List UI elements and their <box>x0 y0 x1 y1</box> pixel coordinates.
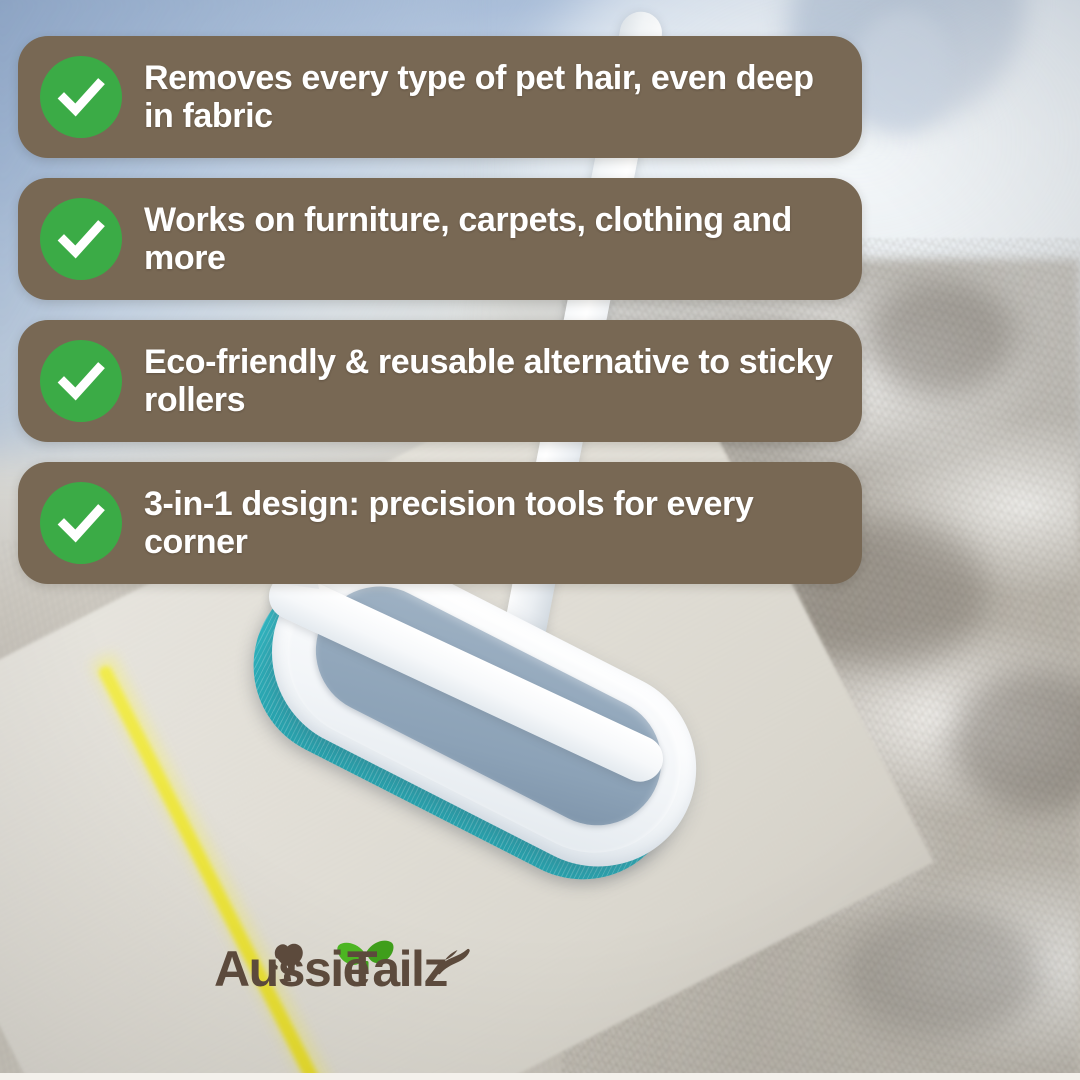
benefit-text: 3-in-1 design: precision tools for every… <box>144 485 836 562</box>
check-circle-icon <box>40 482 122 564</box>
brand-logo: Aussie Tailz <box>214 928 470 1004</box>
benefit-text: Removes every type of pet hair, even dee… <box>144 59 836 136</box>
benefit-card: Removes every type of pet hair, even dee… <box>18 36 862 158</box>
benefit-text: Eco-friendly & reusable alternative to s… <box>144 343 836 420</box>
check-circle-icon <box>40 340 122 422</box>
benefit-card: Works on furniture, carpets, clothing an… <box>18 178 862 300</box>
pet-hair-remover-product <box>236 560 756 940</box>
check-circle-icon <box>40 198 122 280</box>
logo-word-tailz: Tailz <box>347 941 447 997</box>
check-circle-icon <box>40 56 122 138</box>
blurred-hand-detail <box>853 11 950 130</box>
benefit-text: Works on furniture, carpets, clothing an… <box>144 201 836 278</box>
promo-poster: Removes every type of pet hair, even dee… <box>0 0 1080 1080</box>
bottom-edge-strip <box>0 1073 1080 1080</box>
benefit-card: 3-in-1 design: precision tools for every… <box>18 462 862 584</box>
benefit-card: Eco-friendly & reusable alternative to s… <box>18 320 862 442</box>
benefits-list: Removes every type of pet hair, even dee… <box>18 36 862 604</box>
